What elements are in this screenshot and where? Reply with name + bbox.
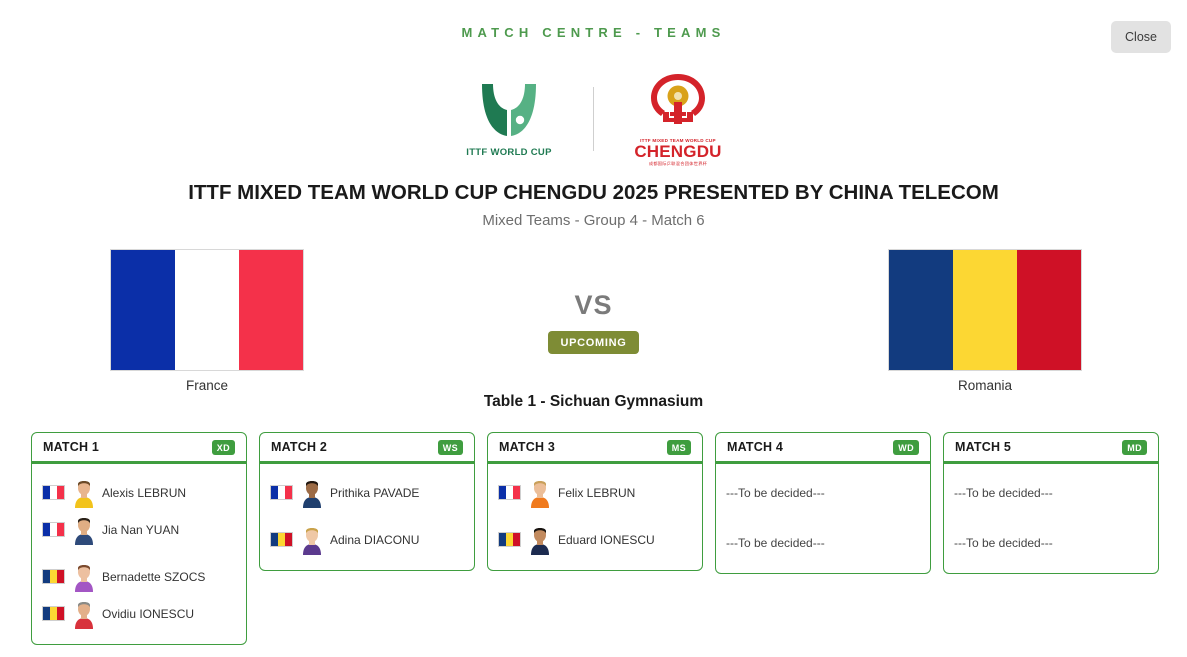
match-card-body: ---To be decided------To be decided--- <box>716 464 930 573</box>
venue-label: Table 1 - Sichuan Gymnasium <box>0 393 1187 411</box>
player-row[interactable]: Ovidiu IONESCU <box>42 595 236 632</box>
to-be-decided-text: ---To be decided--- <box>726 474 920 511</box>
player-flag-icon <box>270 485 293 500</box>
match-card-header: MATCH 3MS <box>488 433 702 464</box>
player-row[interactable]: Eduard IONESCU <box>498 521 692 558</box>
player-avatar <box>299 525 325 555</box>
match-card-header: MATCH 2WS <box>260 433 474 464</box>
away-team[interactable]: Romania <box>855 249 1115 393</box>
match-event-tag: WS <box>438 440 463 455</box>
match-cards-row: MATCH 1XDAlexis LEBRUNJia Nan YUANBernad… <box>31 432 1159 645</box>
player-flag-icon <box>42 606 65 621</box>
match-card-body: Felix LEBRUNEduard IONESCU <box>488 464 702 570</box>
close-button[interactable]: Close <box>1111 21 1171 53</box>
status-badge: UPCOMING <box>548 331 638 354</box>
player-name: Prithika PAVADE <box>330 486 419 500</box>
ittf-logo-caption: ITTF WORLD CUP <box>463 147 555 158</box>
player-name: Adina DIACONU <box>330 533 419 547</box>
event-subtitle: Mixed Teams - Group 4 - Match 6 <box>0 212 1187 229</box>
chengdu-logo-wordmark: CHENGDU <box>632 143 724 161</box>
player-name: Alexis LEBRUN <box>102 486 186 500</box>
match-event-tag: XD <box>212 440 235 455</box>
chengdu-logo: ITTF MIXED TEAM WORLD CUP CHENGDU 成都国际乒联… <box>632 72 724 167</box>
logo-divider <box>593 87 594 151</box>
match-card[interactable]: MATCH 5MD---To be decided------To be dec… <box>943 432 1159 574</box>
player-avatar <box>71 515 97 545</box>
logo-row: ITTF WORLD CUP ITTF MIXED TEAM WORLD CUP <box>0 72 1187 167</box>
player-flag-icon <box>498 532 521 547</box>
match-event-tag: MD <box>1122 440 1147 455</box>
player-flag-icon <box>498 485 521 500</box>
player-name: Eduard IONESCU <box>558 533 655 547</box>
to-be-decided-text: ---To be decided--- <box>726 524 920 561</box>
match-card-title: MATCH 1 <box>43 440 99 454</box>
player-avatar <box>71 478 97 508</box>
match-card[interactable]: MATCH 4WD---To be decided------To be dec… <box>715 432 931 574</box>
match-card-body: ---To be decided------To be decided--- <box>944 464 1158 573</box>
match-event-tag: WD <box>893 440 919 455</box>
match-card-title: MATCH 5 <box>955 440 1011 454</box>
match-card-body: Prithika PAVADEAdina DIACONU <box>260 464 474 570</box>
player-row[interactable]: Alexis LEBRUN <box>42 474 236 511</box>
player-flag-icon <box>42 522 65 537</box>
player-flag-icon <box>270 532 293 547</box>
away-team-name: Romania <box>855 378 1115 393</box>
match-card-title: MATCH 4 <box>727 440 783 454</box>
player-row[interactable]: Prithika PAVADE <box>270 474 464 511</box>
match-card-header: MATCH 1XD <box>32 433 246 464</box>
ittf-mark-icon <box>474 80 544 144</box>
match-card-header: MATCH 5MD <box>944 433 1158 464</box>
chengdu-logo-chinese: 成都国际乒联混合团体世界杯 <box>632 161 724 167</box>
player-name: Ovidiu IONESCU <box>102 607 194 621</box>
match-card-title: MATCH 2 <box>271 440 327 454</box>
player-name: Jia Nan YUAN <box>102 523 179 537</box>
to-be-decided-text: ---To be decided--- <box>954 474 1148 511</box>
match-card-body: Alexis LEBRUNJia Nan YUANBernadette SZOC… <box>32 464 246 644</box>
teams-row: France VS UPCOMING Romania <box>0 249 1187 394</box>
player-row[interactable]: Adina DIACONU <box>270 521 464 558</box>
ittf-world-cup-logo: ITTF WORLD CUP <box>463 80 555 158</box>
player-name: Felix LEBRUN <box>558 486 635 500</box>
to-be-decided-text: ---To be decided--- <box>954 524 1148 561</box>
match-centre-page: MATCH CENTRE - TEAMS Close ITTF WORLD CU… <box>0 0 1187 657</box>
player-flag-icon <box>42 485 65 500</box>
home-team-name: France <box>77 378 337 393</box>
match-card[interactable]: MATCH 3MSFelix LEBRUNEduard IONESCU <box>487 432 703 571</box>
match-card-header: MATCH 4WD <box>716 433 930 464</box>
player-avatar <box>71 599 97 629</box>
away-team-flag-icon <box>888 249 1082 371</box>
chengdu-mark-icon <box>639 72 717 138</box>
player-flag-icon <box>42 569 65 584</box>
match-event-tag: MS <box>667 440 691 455</box>
player-name: Bernadette SZOCS <box>102 570 205 584</box>
player-avatar <box>299 478 325 508</box>
player-row[interactable]: Jia Nan YUAN <box>42 511 236 548</box>
player-row[interactable]: Bernadette SZOCS <box>42 558 236 595</box>
event-title: ITTF MIXED TEAM WORLD CUP CHENGDU 2025 P… <box>0 181 1187 205</box>
player-avatar <box>71 562 97 592</box>
player-avatar <box>527 478 553 508</box>
match-card[interactable]: MATCH 1XDAlexis LEBRUNJia Nan YUANBernad… <box>31 432 247 645</box>
match-card-title: MATCH 3 <box>499 440 555 454</box>
player-avatar <box>527 525 553 555</box>
match-card[interactable]: MATCH 2WSPrithika PAVADEAdina DIACONU <box>259 432 475 571</box>
player-row[interactable]: Felix LEBRUN <box>498 474 692 511</box>
page-eyebrow: MATCH CENTRE - TEAMS <box>0 25 1187 40</box>
